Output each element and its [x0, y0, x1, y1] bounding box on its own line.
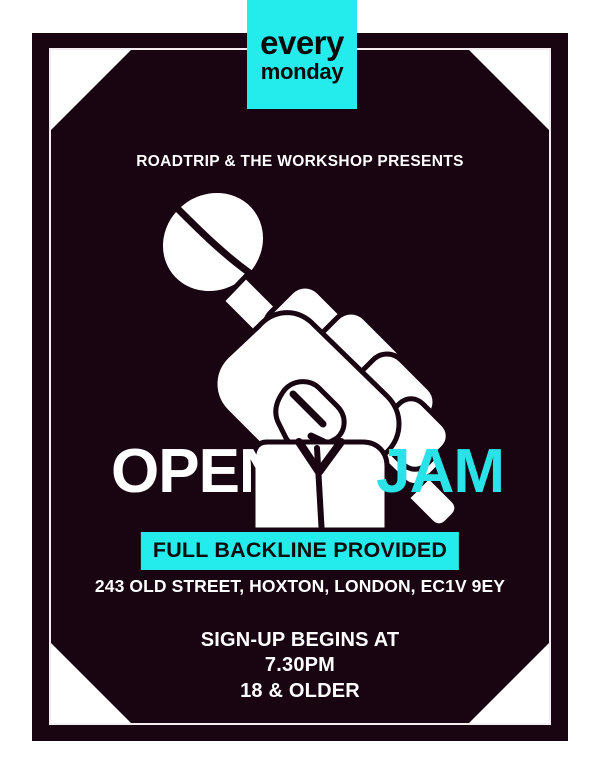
- corner-triangle-top-left: [51, 50, 131, 130]
- venue-address: 243 OLD STREET, HOXTON, LONDON, EC1V 9EY: [51, 576, 549, 597]
- presenter-line: ROADTRIP & THE WORKSHOP PRESENTS: [51, 153, 549, 171]
- signup-info-block: SIGN-UP BEGINS AT 7.30PM 18 & OLDER: [51, 628, 549, 704]
- signup-line-1: SIGN-UP BEGINS AT: [51, 628, 549, 653]
- poster-root: ROADTRIP & THE WORKSHOP PRESENTS: [0, 0, 600, 777]
- signup-line-2: 7.30PM: [51, 653, 549, 678]
- signup-line-3: 18 & OLDER: [51, 678, 549, 704]
- corner-triangle-top-right: [469, 50, 549, 130]
- poster-canvas: ROADTRIP & THE WORKSHOP PRESENTS: [51, 50, 549, 723]
- backline-badge: FULL BACKLINE PROVIDED: [141, 532, 459, 570]
- every-monday-tab: every monday: [247, 0, 357, 109]
- tab-line-every: every: [260, 26, 344, 59]
- poster-frame: ROADTRIP & THE WORKSHOP PRESENTS: [32, 33, 568, 741]
- fist-microphone-icon: [141, 180, 471, 530]
- tab-line-monday: monday: [261, 61, 344, 83]
